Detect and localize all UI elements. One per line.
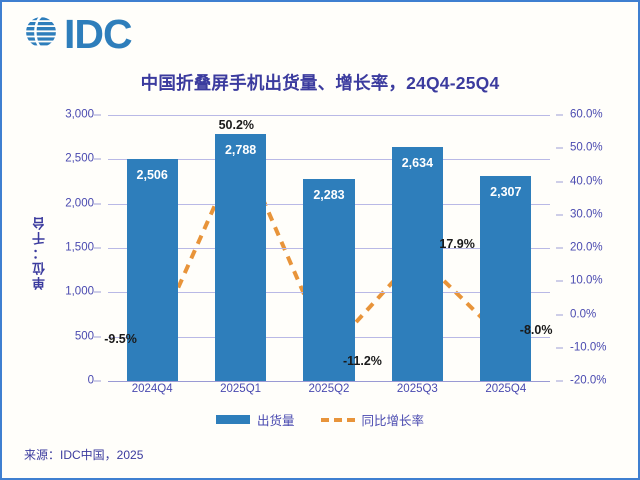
legend-item-growth[interactable]: 同比增长率 [321,410,425,429]
idc-logo: IDC [20,11,132,57]
y-axis-title-text: 单位：千台 [30,215,49,290]
legend-line-swatch [321,418,355,422]
bar-2025Q2[interactable] [303,179,354,381]
right-axis-ticks: -20.0%-10.0%0.0%10.0%20.0%30.0%40.0%50.0… [556,107,612,397]
idc-wordmark: IDC [64,14,132,55]
right-tick-label: -10.0% [570,342,606,354]
x-label-2025Q2: 2025Q2 [285,383,373,395]
right-tick-mark [556,148,563,149]
bar-value-label: 2,788 [215,143,266,157]
bar-value-label: 2,634 [392,156,443,170]
right-tick-label: 40.0% [570,176,603,188]
bar-2025Q4[interactable] [480,176,531,381]
right-tick-label: 60.0% [570,109,603,121]
source-note: 来源：IDC中国，2025 [24,446,143,463]
y-axis-title: 单位：千台 [28,107,50,397]
chart-legend: 出货量 同比增长率 [2,410,638,429]
x-axis-labels: 2024Q42025Q12025Q22025Q32025Q4 [108,383,550,405]
right-tick-mark [556,347,563,348]
left-tick-mark [94,292,101,293]
right-tick-mark [556,181,563,182]
x-label-2025Q4: 2025Q4 [462,383,550,395]
right-tick-label: -20.0% [570,375,606,387]
plot-area: 2,5062,7882,2832,6342,307-9.5%50.2%-11.2… [108,115,550,381]
right-tick-mark [556,248,563,249]
x-label-2025Q3: 2025Q3 [373,383,461,395]
left-tick-mark [94,381,101,382]
left-tick-mark [94,203,101,204]
right-tick-label: 10.0% [570,276,603,288]
growth-value-label: -11.2% [343,354,382,368]
right-tick-mark [556,281,563,282]
left-tick-label: 1,000 [65,287,94,299]
chart-container: 单位：千台 05001,0001,5002,0002,5003,000 -20.… [32,107,612,397]
right-tick-mark [556,381,563,382]
left-tick-mark [94,248,101,249]
x-label-2025Q1: 2025Q1 [196,383,284,395]
bar-2025Q1[interactable] [215,134,266,381]
growth-value-label: -9.5% [104,332,137,346]
bar-2025Q3[interactable] [392,147,443,381]
gridline [108,381,550,382]
right-tick-label: 0.0% [570,309,596,321]
left-tick-mark [94,336,101,337]
right-tick-mark [556,115,563,116]
growth-value-label: 17.9% [439,237,474,251]
slide-canvas: IDC 中国折叠屏手机出货量、增长率，24Q4-25Q4 单位：千台 05001… [0,0,640,480]
left-axis-ticks: 05001,0001,5002,0002,5003,000 [54,107,100,397]
right-tick-label: 20.0% [570,242,603,254]
left-tick-label: 2,500 [65,154,94,166]
x-label-2024Q4: 2024Q4 [108,383,196,395]
legend-label-growth: 同比增长率 [362,410,425,429]
bar-value-label: 2,283 [303,188,354,202]
right-tick-mark [556,314,563,315]
legend-bar-swatch [216,415,250,424]
bar-2024Q4[interactable] [127,159,178,381]
right-tick-label: 30.0% [570,209,603,221]
left-tick-mark [94,115,101,116]
growth-value-label: -8.0% [520,323,553,337]
left-tick-label: 1,500 [65,242,94,254]
legend-label-shipments: 出货量 [257,410,295,429]
plot-inner: 2,5062,7882,2832,6342,307-9.5%50.2%-11.2… [108,115,550,381]
gridline [108,115,550,116]
right-tick-mark [556,214,563,215]
chart-title: 中国折叠屏手机出货量、增长率，24Q4-25Q4 [2,70,638,95]
left-tick-label: 2,000 [65,198,94,210]
growth-value-label: 50.2% [219,118,254,132]
legend-item-shipments[interactable]: 出货量 [216,410,295,429]
right-tick-label: 50.0% [570,143,603,155]
left-tick-label: 500 [75,331,94,343]
left-tick-mark [94,159,101,160]
globe-icon [20,11,62,58]
left-tick-label: 3,000 [65,109,94,121]
bar-value-label: 2,506 [127,168,178,182]
bar-value-label: 2,307 [480,185,531,199]
